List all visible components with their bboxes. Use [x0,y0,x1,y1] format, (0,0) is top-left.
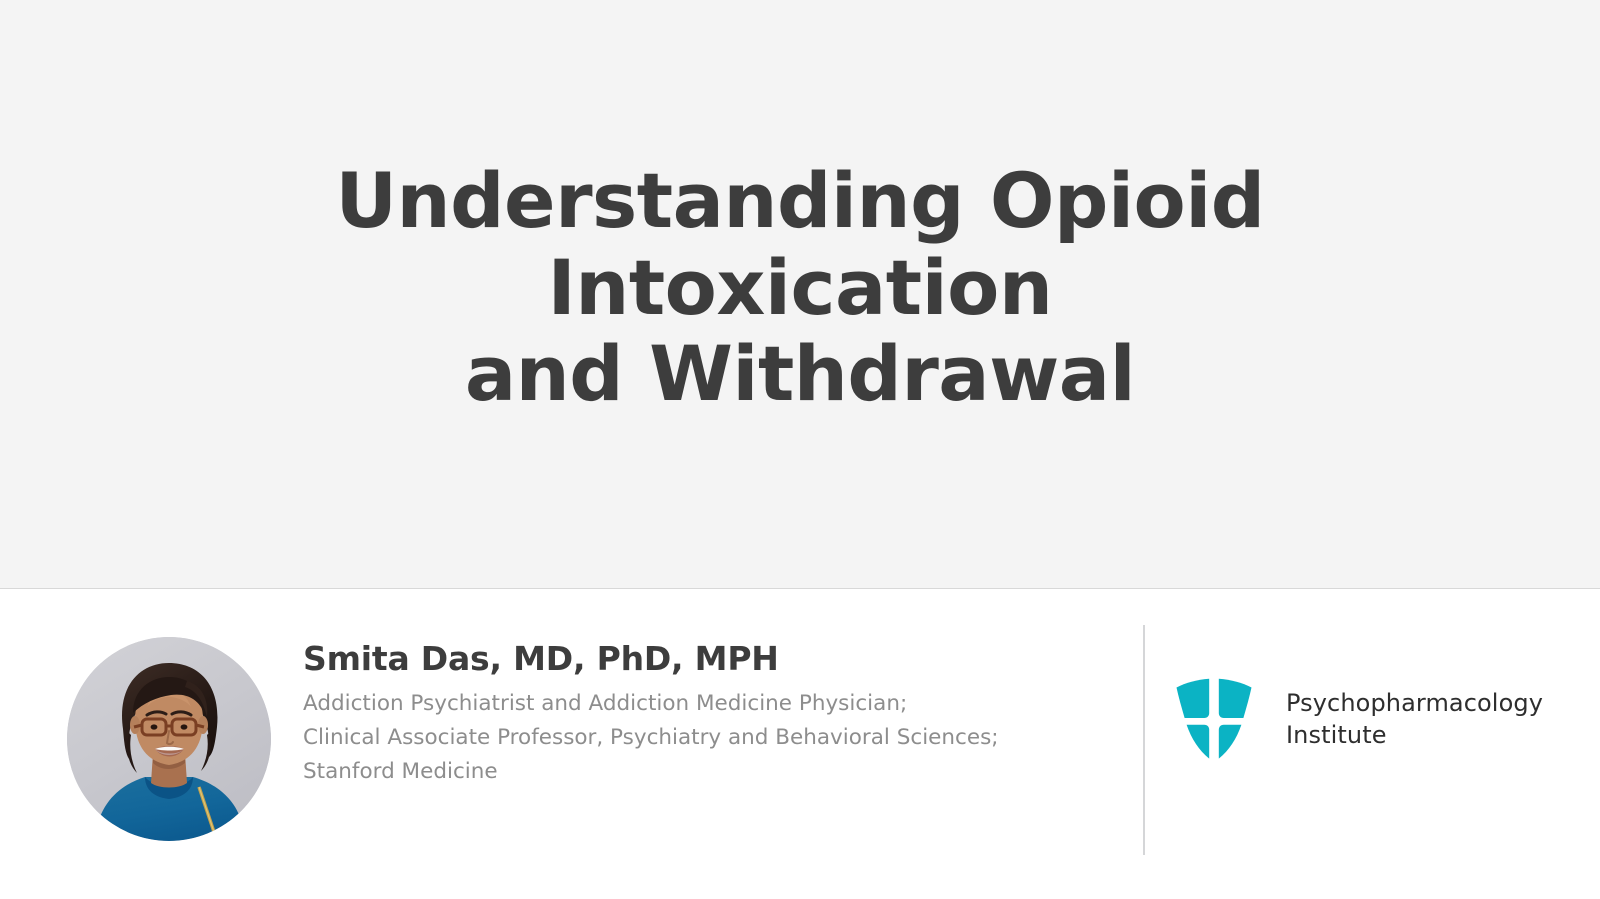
title-line-1: Understanding Opioid Intoxication [335,156,1264,332]
brand-lockup: Psychopharmacology Institute [1168,673,1543,765]
credentials-line-1: Addiction Psychiatrist and Addiction Med… [303,687,1093,721]
presenter-band: Smita Das, MD, PhD, MPH Addiction Psychi… [0,589,1600,899]
title-line-2: and Withdrawal [465,329,1135,418]
brand-name-line-2: Institute [1286,719,1543,751]
title-band: Understanding Opioid Intoxicationand Wit… [0,0,1600,589]
page-title: Understanding Opioid Intoxicationand Wit… [210,158,1390,418]
credentials-line-3: Stanford Medicine [303,755,1093,789]
presenter-name: Smita Das, MD, PhD, MPH [303,641,1093,677]
presenter-credentials: Addiction Psychiatrist and Addiction Med… [303,687,1093,789]
vertical-divider [1143,625,1145,855]
credentials-line-2: Clinical Associate Professor, Psychiatry… [303,721,1093,755]
title-slide: Understanding Opioid Intoxicationand Wit… [0,0,1600,899]
avatar [67,637,271,841]
title-block: Understanding Opioid Intoxicationand Wit… [0,0,1600,588]
presenter-info: Smita Das, MD, PhD, MPH Addiction Psychi… [303,641,1093,789]
brand-name-line-1: Psychopharmacology [1286,687,1543,719]
brand-name: Psychopharmacology Institute [1286,687,1543,751]
shield-icon [1168,673,1260,765]
